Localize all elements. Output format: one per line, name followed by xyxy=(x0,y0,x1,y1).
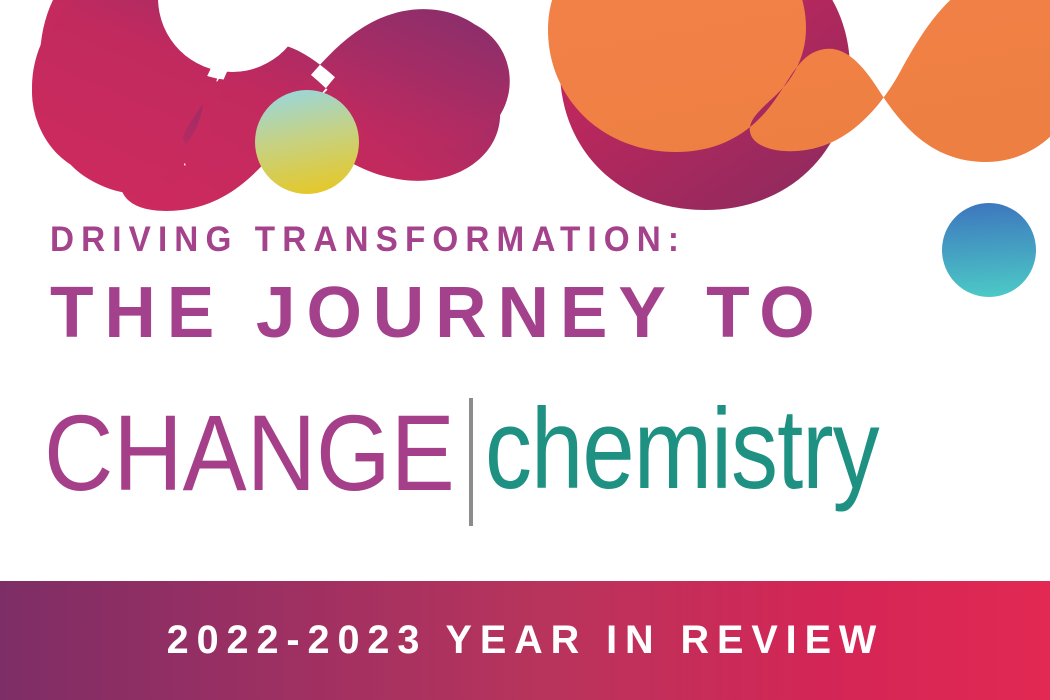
blob-left-crimson-purple xyxy=(32,0,510,211)
headline-kicker: DRIVING TRANSFORMATION: xyxy=(50,222,962,257)
blob-left-drop xyxy=(32,0,505,178)
circle-teal-yellow xyxy=(255,90,359,194)
year-in-review-cover: DRIVING TRANSFORMATION: THE JOURNEY TO C… xyxy=(0,0,1050,700)
headline-block: DRIVING TRANSFORMATION: THE JOURNEY TO xyxy=(50,222,1010,350)
blob-right-magenta xyxy=(560,0,850,210)
change-chemistry-logo: CHANGE chemistry xyxy=(44,398,904,530)
logo-word-chemistry: chemistry xyxy=(485,392,879,506)
banner-label: 2022-2023 YEAR IN REVIEW xyxy=(166,618,884,663)
blob-right-orange xyxy=(548,0,1050,162)
logo-word-change: CHANGE xyxy=(44,398,455,511)
logo-divider xyxy=(469,398,473,526)
page-title: THE JOURNEY TO xyxy=(50,277,1000,350)
year-in-review-banner: 2022-2023 YEAR IN REVIEW xyxy=(0,581,1050,700)
